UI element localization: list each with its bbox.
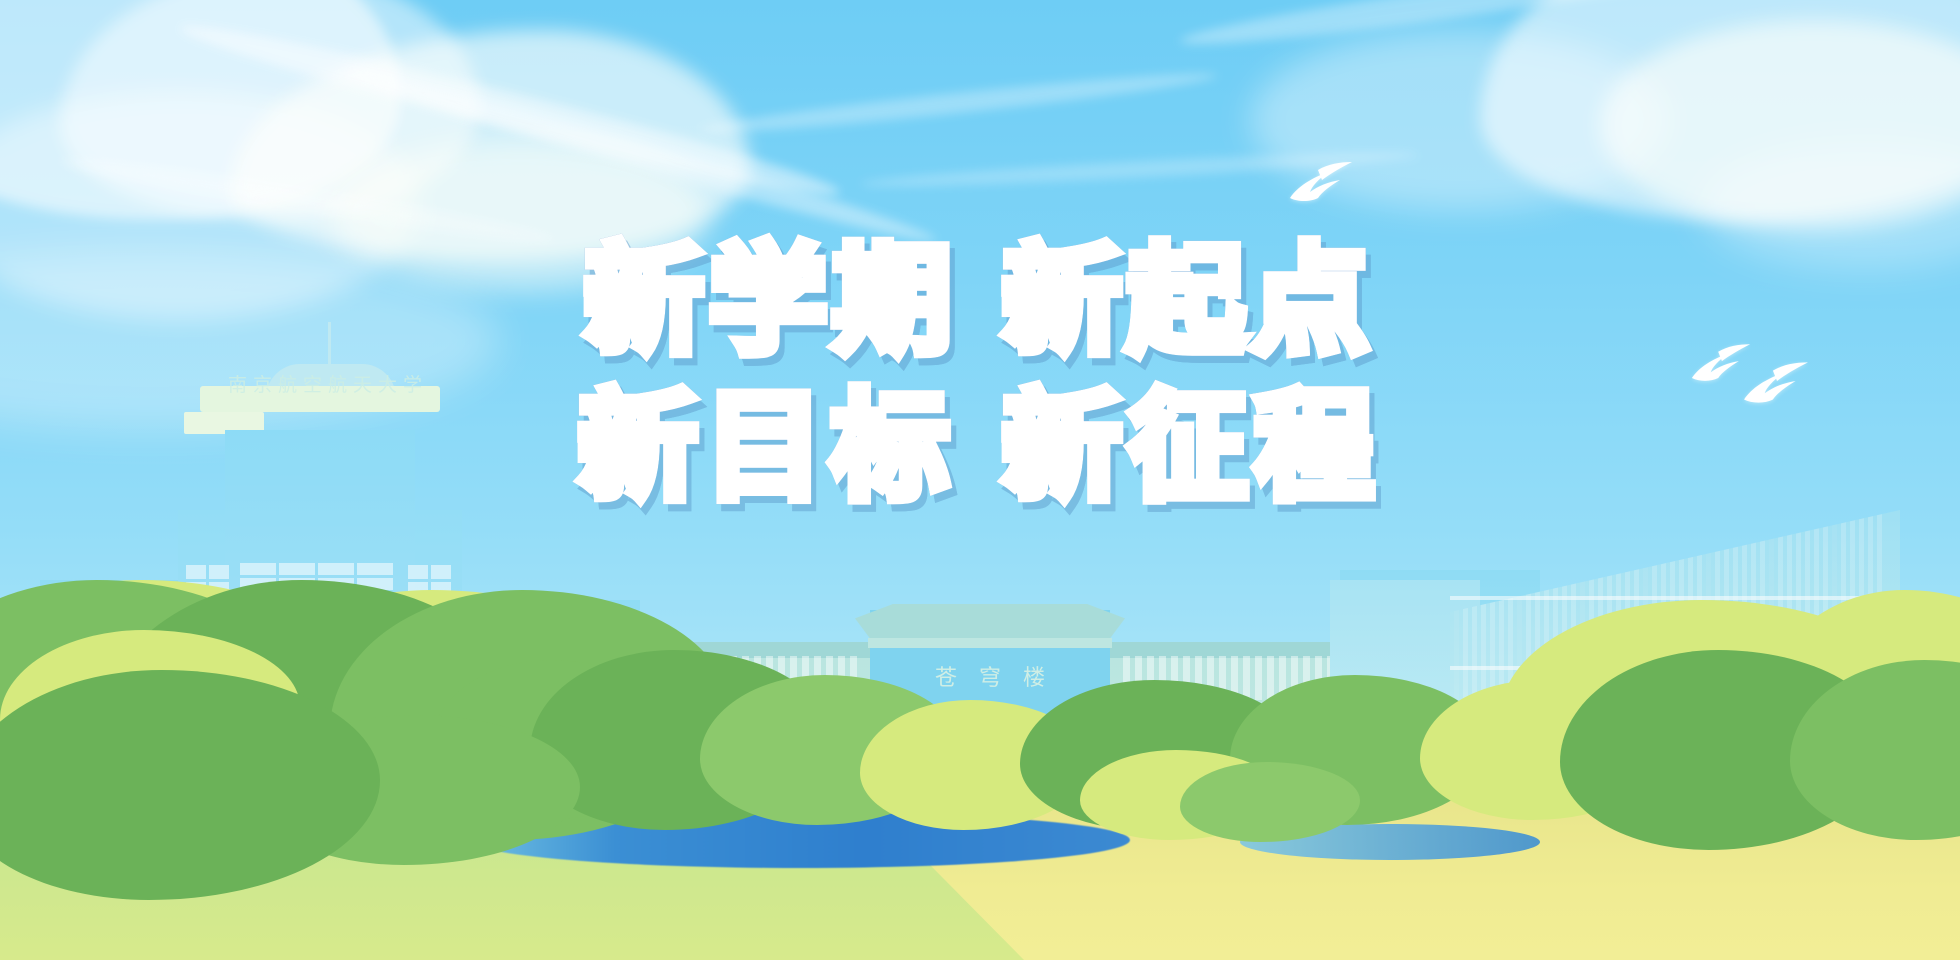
- colonnade-pillar: [1243, 656, 1250, 700]
- hall-pagoda-roof: [855, 604, 1125, 640]
- window-cell: [408, 565, 428, 579]
- modern-building-band: [1450, 596, 1900, 600]
- window-cell: [318, 563, 354, 575]
- window-cell: [209, 565, 229, 579]
- campus-banner-poster: 南京航空航天大学 苍穹楼: [0, 0, 1960, 960]
- cloud-streak: [699, 66, 1218, 140]
- window-cell: [186, 565, 206, 579]
- window-cell: [357, 563, 393, 575]
- tower-name-label: 南京航空航天大学: [228, 370, 468, 397]
- hall-name-label: 苍穹楼: [880, 660, 1100, 692]
- hall-eave: [868, 638, 1112, 648]
- window-cell: [240, 563, 276, 575]
- tower-spire: [328, 322, 331, 366]
- window-cell: [431, 565, 451, 579]
- window-cell: [279, 563, 315, 575]
- campus-illustration: 南京航空航天大学 苍穹楼: [0, 340, 1960, 960]
- swallow-icon: [1288, 160, 1354, 204]
- colonnade-pillar: [1255, 656, 1262, 700]
- colonnade-pillar: [1267, 656, 1274, 700]
